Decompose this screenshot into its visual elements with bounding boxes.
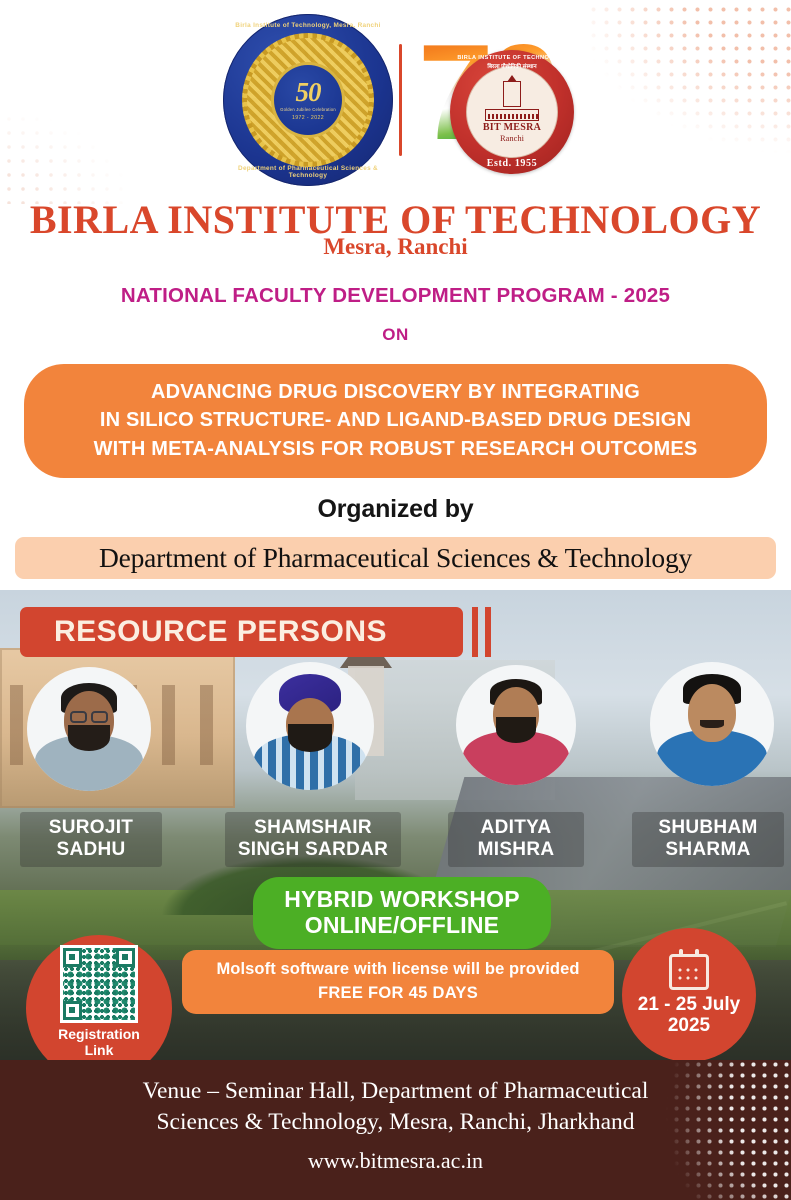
bit-seal-arc-hindi: बिरला प्रौद्योगिकी संस्थान [450, 62, 574, 70]
registration-label-line2: Link [58, 1043, 140, 1059]
bit-seal-arc-english: BIRLA INSTITUTE OF TECHNOLOGY [450, 55, 574, 61]
seal-arc-bottom-text: Department of Pharmaceutical Sciences & … [223, 165, 393, 179]
portrait-moustache [700, 720, 724, 728]
portrait-shubham-sharma [650, 662, 774, 786]
portrait-shamshair-singh-sardar [246, 662, 374, 790]
registration-label: Registration Link [58, 1027, 140, 1058]
software-offer-box: Molsoft software with license will be pr… [182, 950, 614, 1014]
speaker-name-4: SHUBHAM SHARMA [632, 812, 784, 867]
resource-persons-heading: RESOURCE PERSONS [54, 615, 387, 649]
theme-banner: ADVANCING DRUG DISCOVERY BY INTEGRATING … [24, 364, 767, 478]
vertical-divider [399, 44, 402, 156]
golden-jubilee-logo: Birla Institute of Technology, Mesra, Ra… [223, 14, 393, 186]
speaker-last-name: SADHU [30, 839, 152, 861]
qr-code-icon[interactable] [60, 945, 138, 1023]
portrait-face [688, 684, 736, 742]
portrait-beard [68, 725, 110, 751]
software-offer-line2: FREE FOR 45 DAYS [182, 984, 614, 1003]
speaker-name-3: ADITYA MISHRA [448, 812, 584, 867]
registration-label-line1: Registration [58, 1027, 140, 1043]
workshop-mode-line1: HYBRID WORKSHOP [253, 886, 551, 912]
portrait-beard [288, 724, 332, 752]
event-year: 2025 [668, 1016, 710, 1037]
portrait-aditya-mishra [456, 665, 576, 785]
speaker-name-1: SUROJIT SADHU [20, 812, 162, 867]
event-poster: Birla Institute of Technology, Mesra, Ra… [0, 0, 791, 1200]
portrait-surojit-sadhu [27, 667, 151, 791]
bit-seal-inner: BIT MESRA Ranchi [466, 66, 558, 158]
qr-finder-top-left [63, 948, 82, 967]
resource-persons-banner: RESOURCE PERSONS [20, 607, 463, 657]
bit-seal-established: Estd. 1955 [450, 158, 574, 169]
qr-finder-bottom-left [63, 1001, 82, 1020]
workshop-mode-line2: ONLINE/OFFLINE [253, 912, 551, 938]
qr-finder-top-right [116, 948, 135, 967]
bit-seal-line1: BIT MESRA [483, 122, 541, 133]
anniversary-70-graphic: 70 BIRLA INSTITUTE OF TECHNOLOGY बिरला प… [418, 20, 568, 180]
venue-line-1: Venue – Seminar Hall, Department of Phar… [0, 1076, 791, 1107]
poster-footer: Venue – Seminar Hall, Department of Phar… [0, 1060, 791, 1200]
speaker-first-name: SUROJIT [30, 817, 152, 839]
bit-seal-line2: Ranchi [500, 133, 524, 143]
jubilee-caption: Golden Jubilee Celebration [280, 107, 336, 113]
theme-line-2: IN SILICO STRUCTURE- AND LIGAND-BASED DR… [42, 406, 749, 434]
portrait-glasses [70, 711, 108, 723]
jubilee-number: 50 [296, 79, 321, 106]
speaker-last-name: MISHRA [458, 839, 574, 861]
speaker-first-name: SHAMSHAIR [235, 817, 391, 839]
event-date-range: 21 - 25 July [638, 995, 740, 1016]
event-date-badge: 21 - 25 July 2025 [622, 928, 756, 1062]
organized-by-label: Organized by [0, 495, 791, 524]
speaker-last-name: SHARMA [642, 839, 774, 861]
portrait-beard [496, 717, 536, 743]
calendar-icon [669, 954, 709, 990]
institute-location: Mesra, Ranchi [0, 234, 791, 260]
bit-mesra-seal: BIRLA INSTITUTE OF TECHNOLOGY बिरला प्रौ… [450, 50, 574, 174]
department-name: Department of Pharmaceutical Sciences & … [99, 542, 692, 574]
logo-row: Birla Institute of Technology, Mesra, Ra… [0, 14, 791, 186]
jubilee-years: 1972 - 2022 [292, 115, 324, 121]
footer-text-block: Venue – Seminar Hall, Department of Phar… [0, 1076, 791, 1174]
venue-line-2: Sciences & Technology, Mesra, Ranchi, Jh… [0, 1107, 791, 1138]
building-icon [485, 81, 539, 121]
theme-line-3: WITH META-ANALYSIS FOR ROBUST RESEARCH O… [42, 435, 749, 463]
department-bar: Department of Pharmaceutical Sciences & … [15, 537, 776, 579]
software-offer-line1: Molsoft software with license will be pr… [182, 960, 614, 979]
seal-center-medallion: 50 Golden Jubilee Celebration 1972 - 202… [271, 62, 345, 138]
on-label: ON [0, 325, 791, 345]
website-url[interactable]: www.bitmesra.ac.in [0, 1148, 791, 1174]
program-title: NATIONAL FACULTY DEVELOPMENT PROGRAM - 2… [0, 284, 791, 308]
seal-arc-top-text: Birla Institute of Technology, Mesra, Ra… [223, 22, 393, 29]
theme-line-1: ADVANCING DRUG DISCOVERY BY INTEGRATING [42, 378, 749, 406]
workshop-mode-badge: HYBRID WORKSHOP ONLINE/OFFLINE [253, 877, 551, 949]
banner-accent-bars [472, 607, 491, 657]
speaker-name-2: SHAMSHAIR SINGH SARDAR [225, 812, 401, 867]
speaker-last-name: SINGH SARDAR [235, 839, 391, 861]
speaker-first-name: SHUBHAM [642, 817, 774, 839]
speaker-first-name: ADITYA [458, 817, 574, 839]
